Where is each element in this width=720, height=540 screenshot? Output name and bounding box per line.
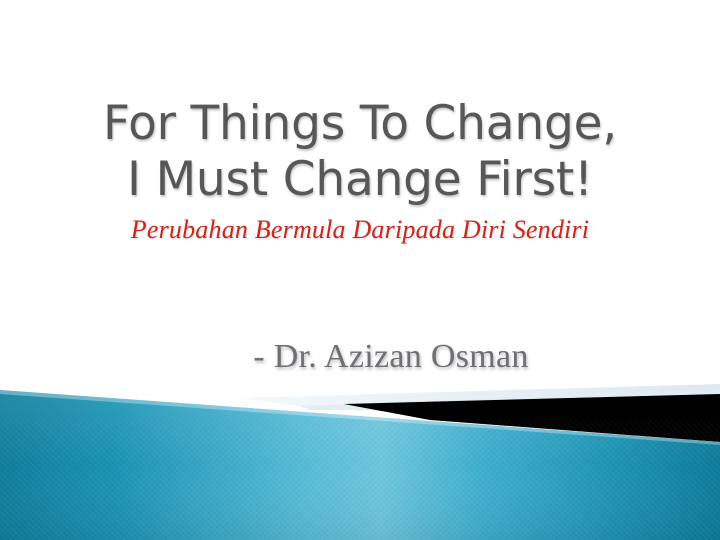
subtitle: Perubahan Bermula Daripada Diri Sendiri [0, 214, 720, 246]
title-line-2: I Must Change First! [0, 152, 720, 208]
banner-shapes [0, 380, 720, 540]
decorative-banner [0, 380, 720, 540]
author-attribution: - Dr. Azizan Osman [62, 336, 720, 378]
title-block: For Things To Change, I Must Change Firs… [0, 96, 720, 246]
title-slide: For Things To Change, I Must Change Firs… [0, 0, 720, 540]
title-line-1: For Things To Change, [0, 96, 720, 152]
author-block: - Dr. Azizan Osman [0, 336, 720, 378]
